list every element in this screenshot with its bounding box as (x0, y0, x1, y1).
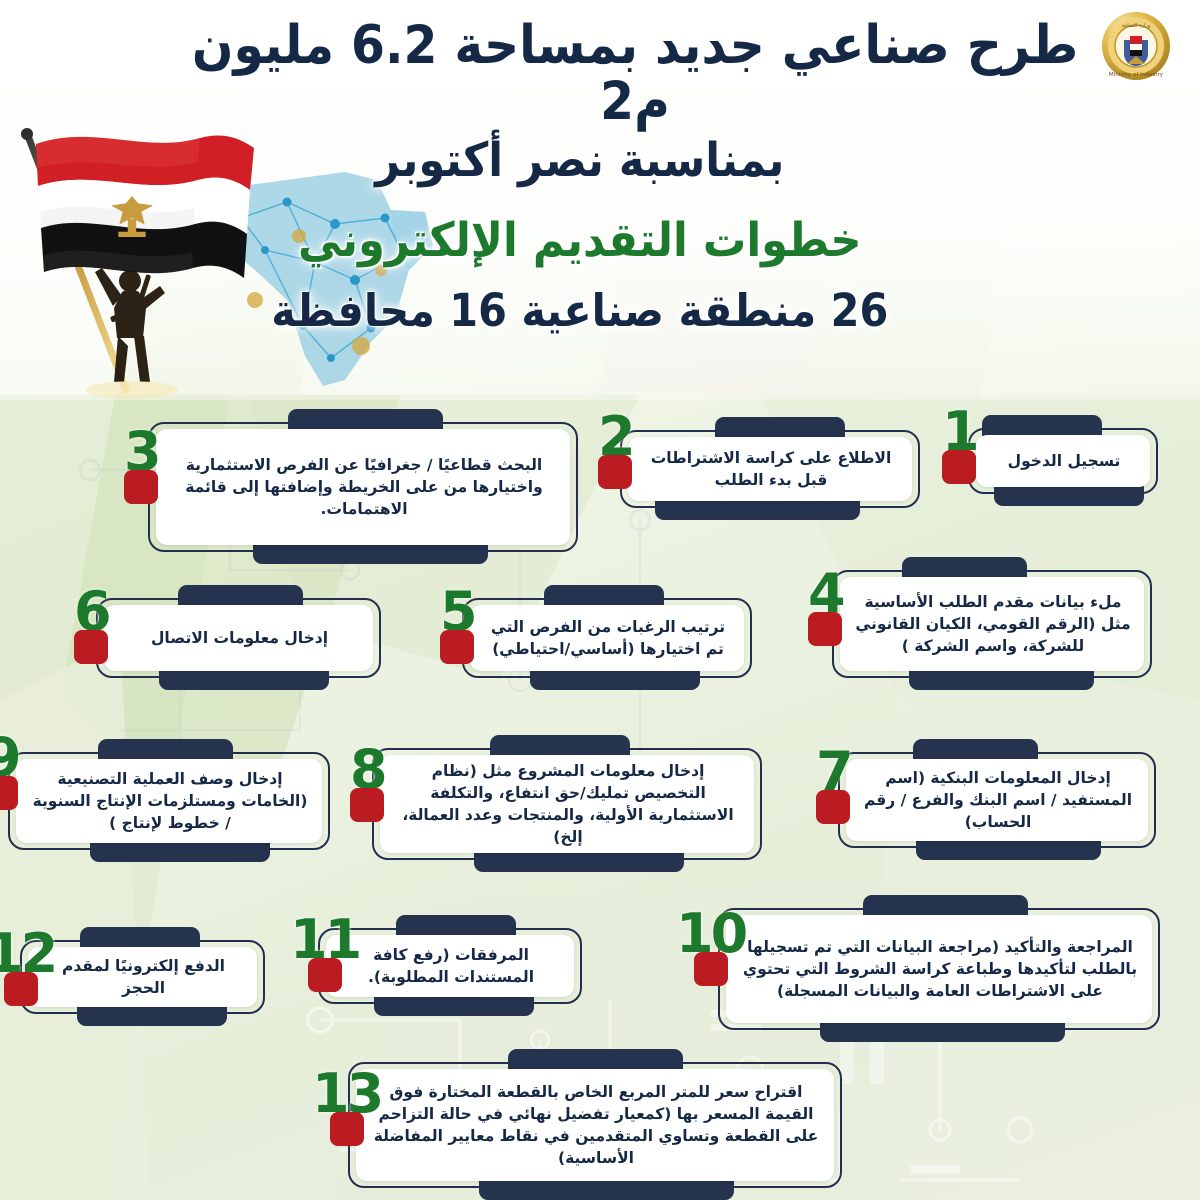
red-square-icon (330, 1112, 364, 1146)
red-square-icon (0, 776, 18, 810)
page-title-line2: بمناسبة نصر أكتوبر (170, 133, 1099, 189)
card-body: إدخال معلومات المشروع مثل (نظام التخصيص … (380, 755, 754, 853)
step-number-badge-3: 3 (124, 430, 159, 504)
red-square-icon (942, 450, 976, 484)
step-text: المرفقات (رفع كافة المستندات المطلوبة). (340, 944, 562, 988)
step-text: تسجيل الدخول (990, 450, 1138, 472)
svg-text:وزارة الصناعة: وزارة الصناعة (1122, 23, 1151, 29)
step-number-badge-8: 8 (350, 748, 385, 822)
step-number: 5 (440, 590, 475, 634)
step-card-3[interactable]: البحث قطاعيًا / جغرافيًا عن الفرص الاستث… (148, 422, 578, 552)
infographic-page: وزارة الصناعة Ministry of Industry طرح ص… (0, 0, 1200, 1200)
step-number-badge-12: 12 (0, 932, 55, 1006)
card-body: إدخال المعلومات البنكية (اسم المستفيد / … (846, 759, 1148, 841)
step-card-10[interactable]: المراجعة والتأكيد (مراجعة البيانات التي … (718, 908, 1160, 1030)
step-number: 6 (74, 590, 109, 634)
card-body: المراجعة والتأكيد (مراجعة البيانات التي … (726, 915, 1152, 1023)
step-number: 4 (808, 572, 843, 616)
step-number: 9 (0, 736, 19, 780)
step-number: 2 (598, 415, 633, 459)
red-square-icon (598, 455, 632, 489)
step-text: إدخال معلومات المشروع مثل (نظام التخصيص … (394, 760, 742, 848)
page-title-line4: 26 منطقة صناعية 16 محافظة (170, 284, 1099, 338)
red-square-icon (440, 630, 474, 664)
step-card-6[interactable]: إدخال معلومات الاتصال 6 (96, 598, 381, 678)
step-number: 8 (350, 748, 385, 792)
step-number: 10 (676, 912, 745, 956)
card-body: البحث قطاعيًا / جغرافيًا عن الفرص الاستث… (156, 429, 570, 545)
step-card-9[interactable]: إدخال وصف العملية التصنيعية (الخامات ومس… (8, 752, 330, 850)
step-text: البحث قطاعيًا / جغرافيًا عن الفرص الاستث… (170, 454, 558, 520)
card-body: ملء بيانات مقدم الطلب الأساسية مثل (الرق… (840, 577, 1144, 671)
card-body: المرفقات (رفع كافة المستندات المطلوبة). (326, 935, 574, 997)
step-number-badge-9: 9 (0, 736, 19, 810)
step-text: إدخال المعلومات البنكية (اسم المستفيد / … (860, 767, 1136, 833)
step-text: إدخال وصف العملية التصنيعية (الخامات ومس… (30, 768, 310, 834)
ministry-of-industry-logo-icon: وزارة الصناعة Ministry of Industry (1100, 10, 1172, 82)
card-body: اقتراح سعر للمتر المربع الخاص بالقطعة ال… (356, 1069, 834, 1181)
card-body: تسجيل الدخول (976, 435, 1150, 487)
red-square-icon (694, 952, 728, 986)
step-text: الدفع إلكترونيًا لمقدم الحجز (42, 955, 245, 999)
step-text: ترتيب الرغبات من الفرص التي تم اختيارها … (484, 616, 732, 660)
card-body: ترتيب الرغبات من الفرص التي تم اختيارها … (470, 605, 744, 671)
card-body: إدخال معلومات الاتصال (104, 605, 373, 671)
step-card-1[interactable]: تسجيل الدخول 1 (968, 428, 1158, 494)
page-title-line1: طرح صناعي جديد بمساحة 6.2 مليون م2 (170, 18, 1099, 129)
red-square-icon (4, 972, 38, 1006)
step-number: 1 (942, 410, 977, 454)
step-number: 11 (290, 918, 359, 962)
step-text: إدخال معلومات الاتصال (118, 627, 361, 649)
step-number-badge-2: 2 (598, 415, 633, 489)
step-card-2[interactable]: الاطلاع على كراسة الاشتراطات قبل بدء الط… (620, 430, 920, 508)
step-number-badge-13: 13 (312, 1072, 381, 1146)
step-number: 13 (312, 1072, 381, 1116)
red-square-icon (808, 612, 842, 646)
title-block: طرح صناعي جديد بمساحة 6.2 مليون م2 بمناس… (130, 18, 1140, 338)
svg-text:Ministry of Industry: Ministry of Industry (1109, 72, 1164, 78)
step-card-5[interactable]: ترتيب الرغبات من الفرص التي تم اختيارها … (462, 598, 752, 678)
header-section: وزارة الصناعة Ministry of Industry طرح ص… (0, 0, 1200, 395)
step-card-7[interactable]: إدخال المعلومات البنكية (اسم المستفيد / … (838, 752, 1156, 848)
step-card-4[interactable]: ملء بيانات مقدم الطلب الأساسية مثل (الرق… (832, 570, 1152, 678)
step-number-badge-1: 1 (942, 410, 977, 484)
red-square-icon (124, 470, 158, 504)
red-square-icon (816, 790, 850, 824)
step-text: ملء بيانات مقدم الطلب الأساسية مثل (الرق… (854, 591, 1132, 657)
step-number: 12 (0, 932, 55, 976)
step-card-12[interactable]: الدفع إلكترونيًا لمقدم الحجز 12 (20, 940, 265, 1014)
step-number-badge-7: 7 (816, 750, 851, 824)
step-number-badge-5: 5 (440, 590, 475, 664)
step-number: 7 (816, 750, 851, 794)
step-card-11[interactable]: المرفقات (رفع كافة المستندات المطلوبة). … (318, 928, 582, 1004)
card-body: إدخال وصف العملية التصنيعية (الخامات ومس… (16, 759, 322, 843)
step-number-badge-10: 10 (676, 912, 745, 986)
page-title-line3: خطوات التقديم الإلكتروني (170, 212, 1099, 271)
card-body: الاطلاع على كراسة الاشتراطات قبل بدء الط… (628, 437, 912, 501)
step-text: المراجعة والتأكيد (مراجعة البيانات التي … (740, 936, 1140, 1002)
step-number: 3 (124, 430, 159, 474)
step-number-badge-11: 11 (290, 918, 359, 992)
step-card-8[interactable]: إدخال معلومات المشروع مثل (نظام التخصيص … (372, 748, 762, 860)
step-card-13[interactable]: اقتراح سعر للمتر المربع الخاص بالقطعة ال… (348, 1062, 842, 1188)
step-number-badge-4: 4 (808, 572, 843, 646)
red-square-icon (74, 630, 108, 664)
step-text: الاطلاع على كراسة الاشتراطات قبل بدء الط… (642, 447, 900, 491)
step-number-badge-6: 6 (74, 590, 109, 664)
step-text: اقتراح سعر للمتر المربع الخاص بالقطعة ال… (370, 1081, 822, 1169)
red-square-icon (350, 788, 384, 822)
card-body: الدفع إلكترونيًا لمقدم الحجز (28, 947, 257, 1007)
red-square-icon (308, 958, 342, 992)
